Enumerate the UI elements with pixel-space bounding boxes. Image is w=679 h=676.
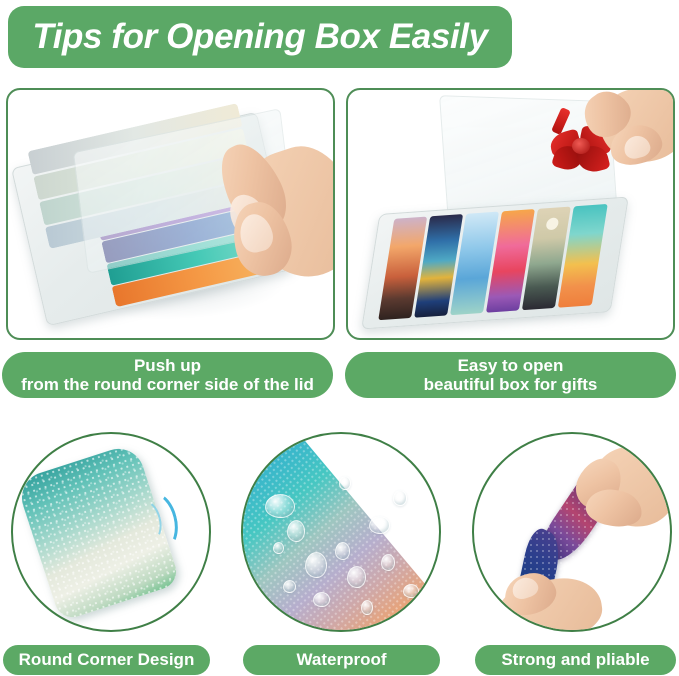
pliable-artwork	[474, 434, 670, 630]
water-droplet	[361, 600, 373, 615]
nail-strips-gift-box	[376, 202, 612, 323]
feature-label-round-corner-text: Round Corner Design	[19, 650, 195, 670]
feature-label-round-corner: Round Corner Design	[3, 645, 210, 675]
caption-push-up-line-2: from the round corner side of the lid	[21, 375, 314, 394]
photo-push-up	[8, 90, 333, 338]
water-droplet	[393, 490, 407, 506]
water-droplet	[283, 580, 296, 593]
feature-label-strong-pliable: Strong and pliable	[475, 645, 676, 675]
photo-easy-open	[348, 90, 673, 338]
page-title-banner: Tips for Opening Box Easily	[8, 6, 512, 68]
water-droplet	[305, 552, 327, 578]
water-droplet	[265, 494, 295, 518]
water-droplet	[339, 476, 351, 490]
caption-push-up: Push up from the round corner side of th…	[2, 352, 333, 398]
feature-label-strong-pliable-text: Strong and pliable	[501, 650, 649, 670]
water-droplet	[335, 542, 350, 560]
water-droplet	[313, 592, 330, 607]
waterproof-texture	[241, 432, 441, 632]
infographic-root: Tips for Opening Box Easily	[0, 0, 679, 676]
water-droplet	[347, 566, 366, 588]
waterproof-artwork	[243, 434, 439, 630]
feature-label-waterproof: Waterproof	[243, 645, 440, 675]
caption-easy-open-line-1: Easy to open	[458, 356, 564, 375]
caption-push-up-line-1: Push up	[134, 356, 201, 375]
water-droplet	[273, 542, 284, 554]
photo-frame-push-up	[6, 88, 335, 340]
caption-easy-open-line-2: beautiful box for gifts	[424, 375, 598, 394]
feature-image-strong-pliable	[472, 432, 672, 632]
caption-easy-open: Easy to open beautiful box for gifts	[345, 352, 676, 398]
water-droplet	[287, 520, 305, 542]
feature-image-round-corner	[11, 432, 211, 632]
feature-image-waterproof	[241, 432, 441, 632]
water-droplet	[381, 554, 395, 571]
photo-frame-easy-open	[346, 88, 675, 340]
page-title: Tips for Opening Box Easily	[32, 17, 487, 57]
water-droplet	[403, 584, 419, 598]
round-corner-artwork	[13, 434, 209, 630]
water-droplet	[369, 516, 390, 534]
feature-label-waterproof-text: Waterproof	[296, 650, 386, 670]
